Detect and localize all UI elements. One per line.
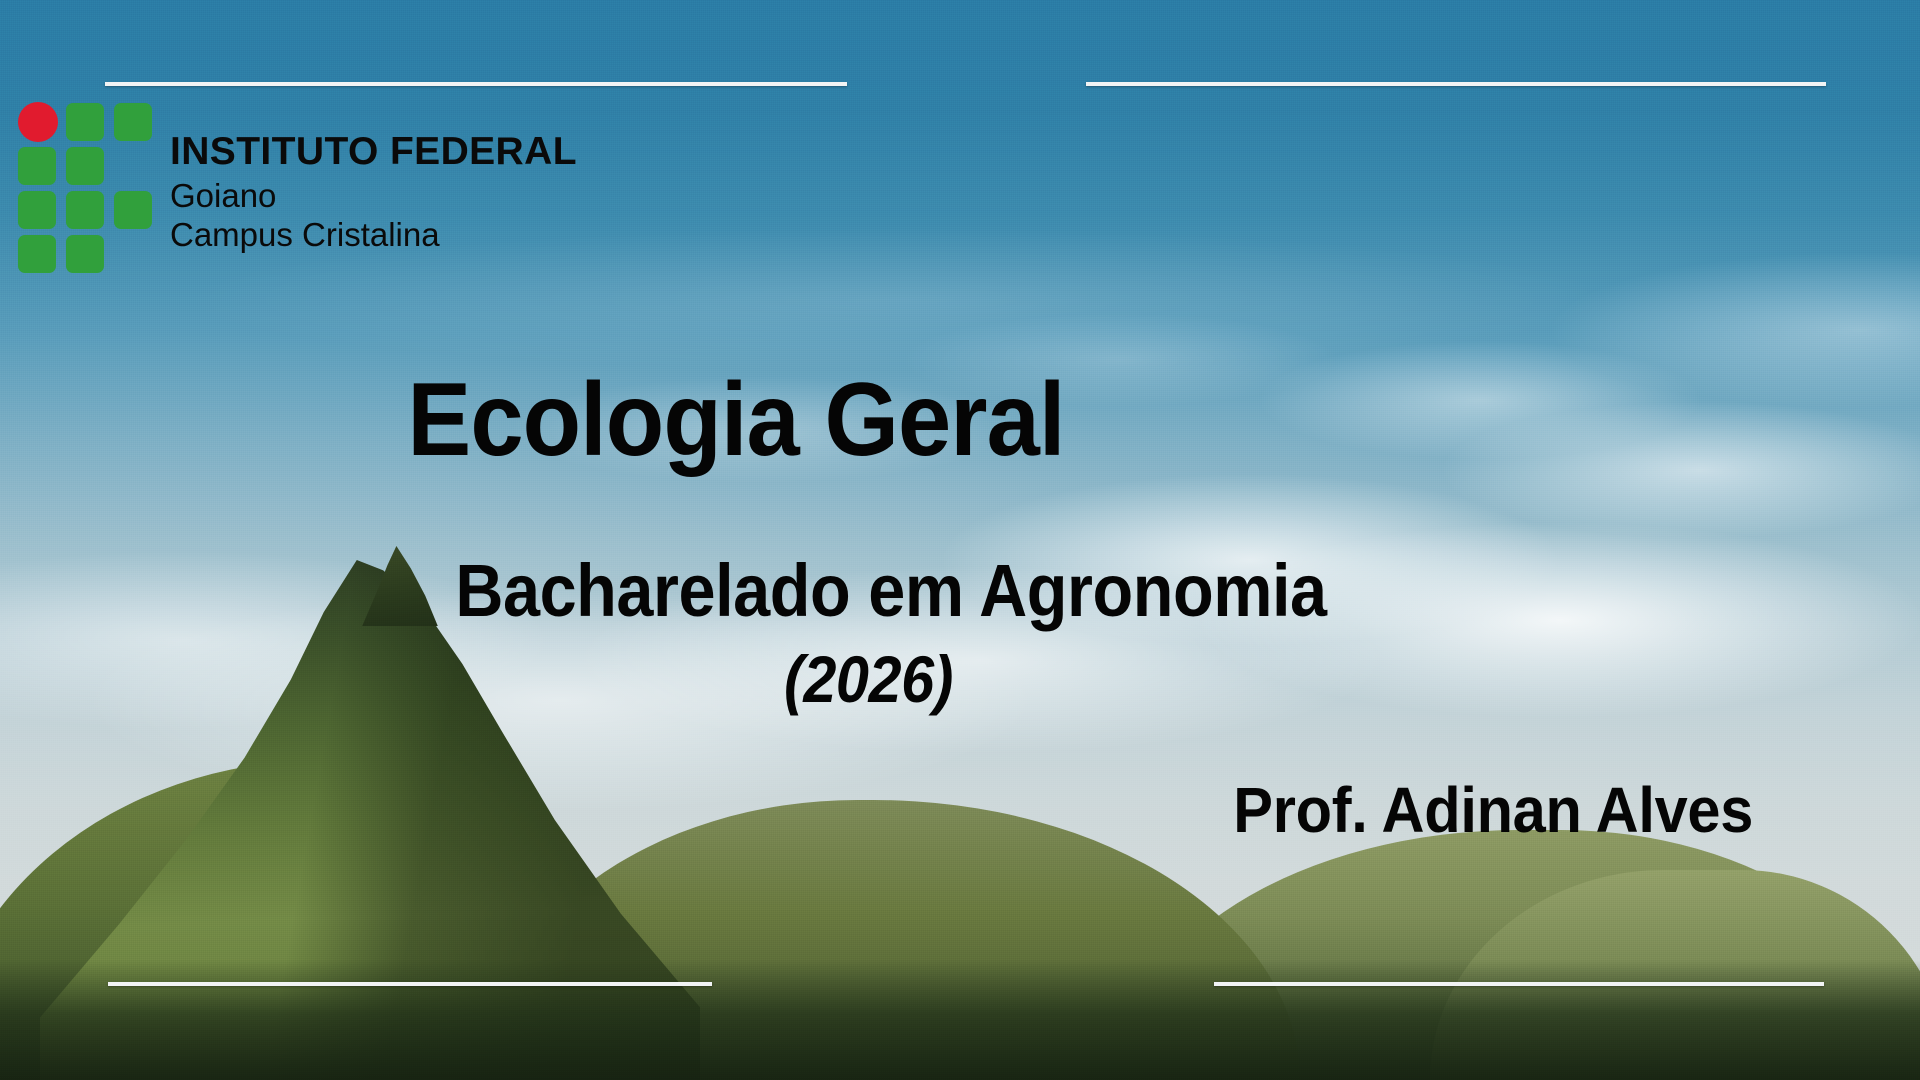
logo-green-square [18,235,56,273]
course-title: Ecologia Geral [0,368,1472,472]
logo-green-square [114,191,152,229]
logo-red-circle [18,102,58,142]
year-label: (2026) [0,646,1737,712]
divider-top-right [1086,82,1826,86]
logo-wordmark: INSTITUTO FEDERAL Goiano Campus Cristali… [170,102,577,255]
logo-unit-name: Goiano [170,177,577,216]
program-name: Bacharelado em Agronomia [0,554,1782,628]
divider-top-left [105,82,847,86]
professor-name: Prof. Adinan Alves [0,778,1753,842]
logo-campus-name: Campus Cristalina [170,216,577,255]
logo-institution-name: INSTITUTO FEDERAL [170,132,577,171]
if-goiano-logo-mark [18,102,152,272]
logo-green-square [18,147,56,185]
logo-green-square [114,103,152,141]
title-slide: INSTITUTO FEDERAL Goiano Campus Cristali… [0,0,1920,1080]
divider-bottom-left [108,982,712,986]
logo-green-square [66,103,104,141]
logo-green-square [66,235,104,273]
logo-green-square [66,147,104,185]
divider-bottom-right [1214,982,1824,986]
institution-logo: INSTITUTO FEDERAL Goiano Campus Cristali… [18,102,577,272]
logo-green-square [18,191,56,229]
logo-green-square [66,191,104,229]
